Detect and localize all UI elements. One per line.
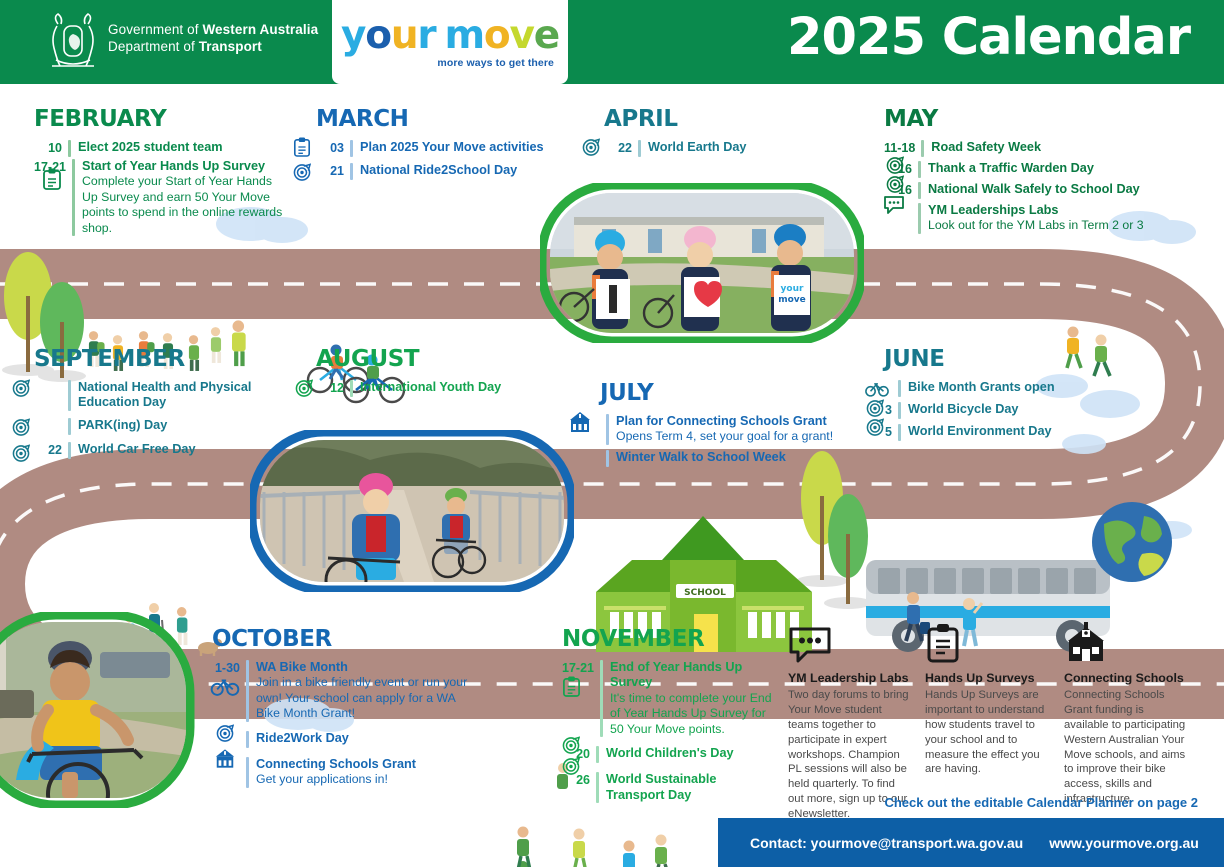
month-block-august: AUGUST 12 International Youth Day: [316, 348, 566, 399]
event-row: YM Leaderships Labs Look out for the YM …: [884, 203, 1184, 234]
event-subtitle: Look out for the YM Labs in Term 2 or 3: [928, 218, 1184, 233]
school-icon: [214, 748, 236, 769]
month-title-november: NOVEMBER: [562, 628, 772, 651]
gov-line2-bold: Transport: [199, 39, 262, 54]
info-box-text: Connecting Schools Grant funding is avai…: [1064, 688, 1188, 807]
logo-tagline: more ways to get there: [437, 57, 554, 69]
logo-letter-m: m: [444, 16, 483, 55]
month-title-may: MAY: [884, 108, 1184, 131]
your-move-wordmark: y o u r m o v e: [341, 16, 559, 55]
gov-line2-plain: Department of: [108, 39, 199, 54]
event-title: Ride2Work Day: [256, 731, 472, 746]
info-box-title: Connecting Schools: [1064, 671, 1188, 686]
page-header: Government of Western Australia Departme…: [0, 0, 1224, 84]
clipboard-icon: [42, 168, 62, 190]
event-title: Plan for Connecting Schools Grant: [616, 414, 850, 429]
event-row: 16 National Walk Safely to School Day: [884, 182, 1184, 199]
wa-state-crest-icon: [44, 10, 102, 74]
event-row: 03 Plan 2025 Your Move activities: [316, 140, 566, 157]
month-block-april: APRIL 22 World Earth Day: [604, 108, 854, 159]
event-title: Road Safety Week: [931, 140, 1184, 155]
bicycle-icon: [865, 380, 889, 397]
event-title: PARK(ing) Day: [78, 418, 284, 433]
info-box-title: YM Leadership Labs: [788, 671, 912, 686]
month-block-october: OCTOBER 1-30 WA Bike Month Join in a bik…: [212, 628, 472, 790]
government-wordmark: Government of Western Australia Departme…: [108, 22, 318, 56]
event-date: 21: [316, 163, 350, 178]
event-row: 3 World Bicycle Day: [884, 402, 1164, 419]
target-icon: [562, 757, 580, 776]
info-box-ym-leadership-labs: YM Leadership Labs Two day forums to bri…: [788, 624, 912, 822]
logo-letter-o2: o: [484, 16, 510, 55]
target-icon: [12, 444, 30, 463]
school-icon: [568, 411, 592, 433]
clipboard-icon: [925, 624, 1049, 664]
event-subtitle: It's time to complete your End of Year H…: [610, 691, 772, 737]
info-box-title: Hands Up Surveys: [925, 671, 1049, 686]
event-title: YM Leaderships Labs: [928, 203, 1184, 218]
event-row: Plan for Connecting Schools Grant Opens …: [600, 414, 850, 445]
event-title: Thank a Traffic Warden Day: [928, 161, 1184, 176]
bicycle-icon: [210, 676, 240, 696]
event-title: World Earth Day: [648, 140, 854, 155]
event-date: 17-21: [562, 660, 600, 675]
planner-note: Check out the editable Calendar Planner …: [884, 795, 1198, 810]
target-icon: [12, 418, 30, 437]
event-subtitle: Get your applications in!: [256, 772, 472, 787]
target-icon: [295, 379, 313, 398]
month-block-september: SEPTEMBER National Health and Physical E…: [34, 348, 284, 461]
photo-woman-cycling-park: [0, 612, 202, 808]
svg-text:your: your: [781, 284, 804, 294]
month-title-april: APRIL: [604, 108, 854, 131]
event-title: Winter Walk to School Week: [616, 450, 850, 465]
event-title: World Sustainable Transport Day: [606, 772, 772, 803]
event-subtitle: Opens Term 4, set your goal for a grant!: [616, 429, 850, 444]
info-box-text: Hands Up Surveys are important to unders…: [925, 688, 1049, 777]
svg-text:SCHOOL: SCHOOL: [684, 588, 726, 598]
event-title: World Bicycle Day: [908, 402, 1164, 417]
target-icon: [582, 138, 600, 157]
event-row: Bike Month Grants open: [884, 380, 1164, 397]
logo-letter-o: o: [365, 16, 391, 55]
month-block-june: JUNE Bike Month Grants open 3 World Bicy…: [884, 348, 1164, 443]
page-title: 2025 Calendar: [787, 8, 1190, 67]
event-title: Connecting Schools Grant: [256, 757, 472, 772]
event-title: World Environment Day: [908, 424, 1164, 439]
target-icon: [866, 418, 884, 437]
speech-bubble-icon: [883, 195, 905, 215]
month-title-march: MARCH: [316, 108, 566, 131]
footer-website[interactable]: www.yourmove.org.au: [1049, 835, 1199, 851]
event-title: End of Year Hands Up Survey: [610, 660, 772, 691]
month-title-june: JUNE: [884, 348, 1164, 371]
event-date: 5: [884, 424, 898, 439]
logo-letter-u: u: [391, 16, 418, 55]
event-row: PARK(ing) Day: [34, 418, 284, 435]
gov-line1-bold: Western Australia: [202, 22, 318, 37]
event-title: Elect 2025 student team: [78, 140, 284, 155]
event-date: 22: [604, 140, 638, 155]
event-row: 22 World Earth Day: [604, 140, 854, 157]
month-title-september: SEPTEMBER: [34, 348, 284, 371]
school-icon: [1064, 624, 1188, 664]
event-row: 21 National Ride2School Day: [316, 163, 566, 180]
event-row: 26 World Sustainable Transport Day: [562, 772, 772, 803]
event-row: 20 World Children's Day: [562, 746, 772, 763]
event-title: National Ride2School Day: [360, 163, 566, 178]
info-box-hands-up-surveys: Hands Up Surveys Hands Up Surveys are im…: [925, 624, 1049, 777]
month-block-february: FEBRUARY 10 Elect 2025 student team 17-2…: [34, 108, 284, 238]
event-date: [34, 380, 68, 381]
event-title: Start of Year Hands Up Survey: [82, 159, 284, 174]
event-subtitle: Complete your Start of Year Hands Up Sur…: [82, 174, 284, 236]
month-block-november: NOVEMBER 17-21 End of Year Hands Up Surv…: [562, 628, 772, 805]
month-block-march: MARCH 03 Plan 2025 Your Move activities …: [316, 108, 566, 182]
clipboard-icon: [293, 137, 311, 157]
event-date: 10: [34, 140, 68, 155]
photo-students-i-love-your-move: your move: [540, 183, 864, 343]
logo-letter-v: v: [510, 16, 534, 55]
svg-text:move: move: [778, 295, 806, 305]
event-date: 12: [316, 380, 350, 395]
calendar-page: SCHOOL: [0, 0, 1224, 867]
event-title: Plan 2025 Your Move activities: [360, 140, 566, 155]
event-row: 17-21 End of Year Hands Up Survey It's t…: [562, 660, 772, 737]
event-row: 22 World Car Free Day: [34, 442, 284, 459]
logo-letter-r: r: [417, 16, 435, 55]
event-date: 3: [884, 402, 898, 417]
event-title: WA Bike Month: [256, 660, 472, 675]
speech-bubble-icon: [788, 624, 912, 664]
event-title: International Youth Day: [360, 380, 566, 395]
month-title-february: FEBRUARY: [34, 108, 284, 131]
event-date: 1-30: [212, 660, 246, 675]
month-block-may: MAY 11-18 Road Safety Week 16 Thank a Tr…: [884, 108, 1184, 236]
footer-contact[interactable]: Contact: yourmove@transport.wa.gov.au: [750, 835, 1023, 851]
event-date: 22: [34, 442, 68, 457]
photo-students-cycling-bridge: [250, 430, 574, 592]
target-icon: [886, 156, 904, 175]
event-row: 16 Thank a Traffic Warden Day: [884, 161, 1184, 178]
event-row: Winter Walk to School Week: [600, 450, 850, 467]
month-title-july: JULY: [600, 382, 850, 405]
target-icon: [12, 379, 30, 398]
month-title-october: OCTOBER: [212, 628, 472, 651]
info-box-connecting-schools: Connecting Schools Connecting Schools Gr…: [1064, 624, 1188, 807]
event-subtitle: Join in a bike friendly event or run you…: [256, 675, 472, 721]
target-icon: [866, 399, 884, 418]
event-row: 17-21 Start of Year Hands Up Survey Comp…: [34, 159, 284, 236]
target-icon: [886, 175, 904, 194]
event-row: 5 World Environment Day: [884, 424, 1164, 441]
month-title-august: AUGUST: [316, 348, 566, 371]
globe-illustration: [1092, 502, 1172, 582]
event-title: World Children's Day: [606, 746, 772, 761]
event-row: Ride2Work Day: [212, 731, 472, 748]
target-icon: [216, 724, 234, 743]
event-title: Bike Month Grants open: [908, 380, 1164, 395]
gov-line1-plain: Government of: [108, 22, 202, 37]
your-move-logo: y o u r m o v e more ways to get there: [332, 0, 568, 84]
target-icon: [562, 736, 580, 755]
event-date: 03: [316, 140, 350, 155]
target-icon: [293, 163, 311, 182]
event-row: 11-18 Road Safety Week: [884, 140, 1184, 157]
clipboard-icon: [562, 676, 581, 697]
event-row: Connecting Schools Grant Get your applic…: [212, 757, 472, 788]
event-row: 12 International Youth Day: [316, 380, 566, 397]
event-row: 1-30 WA Bike Month Join in a bike friend…: [212, 660, 472, 722]
event-title: World Car Free Day: [78, 442, 284, 457]
event-row: National Health and Physical Education D…: [34, 380, 284, 411]
footer-bar: Contact: yourmove@transport.wa.gov.au ww…: [718, 818, 1224, 867]
event-date: [34, 418, 68, 419]
month-block-july: JULY Plan for Connecting Schools Grant O…: [600, 382, 850, 469]
logo-letter-y: y: [341, 16, 365, 55]
event-title: National Health and Physical Education D…: [78, 380, 284, 411]
event-date: 11-18: [884, 140, 921, 155]
event-row: 10 Elect 2025 student team: [34, 140, 284, 157]
event-title: National Walk Safely to School Day: [928, 182, 1184, 197]
logo-letter-e: e: [534, 16, 559, 55]
